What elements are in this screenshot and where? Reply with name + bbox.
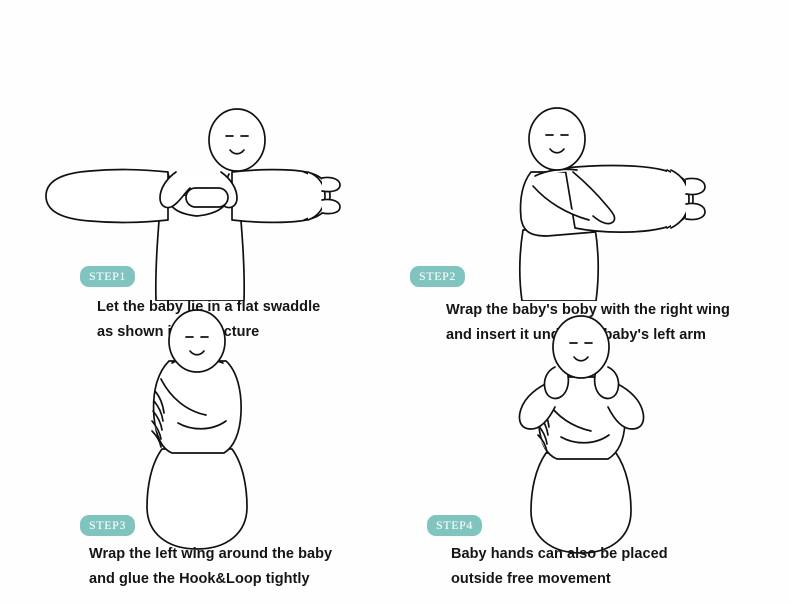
step-caption-3-line2: and glue the Hook&Loop tightly: [89, 567, 332, 592]
step-panel-4: STEP4 Baby hands can also be placed outs…: [395, 301, 790, 602]
step-panel-3: STEP3 Wrap the left wing around the baby…: [0, 301, 395, 602]
step-panel-2: STEP2 Wrap the baby's boby with the righ…: [395, 0, 790, 301]
illustration-step-1: [0, 0, 395, 301]
step-badge-1: STEP1: [80, 266, 135, 287]
step-panel-1: STEP1 Let the baby lie in a flat swaddle…: [0, 0, 395, 301]
step-badge-2: STEP2: [410, 266, 465, 287]
step-badge-4: STEP4: [427, 515, 482, 536]
step-caption-4: Baby hands can also be placed outside fr…: [451, 542, 668, 592]
illustration-step-2: [395, 0, 790, 301]
step-caption-4-line2: outside free movement: [451, 567, 668, 592]
step-caption-3: Wrap the left wing around the baby and g…: [89, 542, 332, 592]
step-badge-3: STEP3: [80, 515, 135, 536]
instruction-sheet: STEP1 Let the baby lie in a flat swaddle…: [0, 0, 790, 603]
step-caption-4-line1: Baby hands can also be placed: [451, 542, 668, 567]
step-caption-3-line1: Wrap the left wing around the baby: [89, 542, 332, 567]
